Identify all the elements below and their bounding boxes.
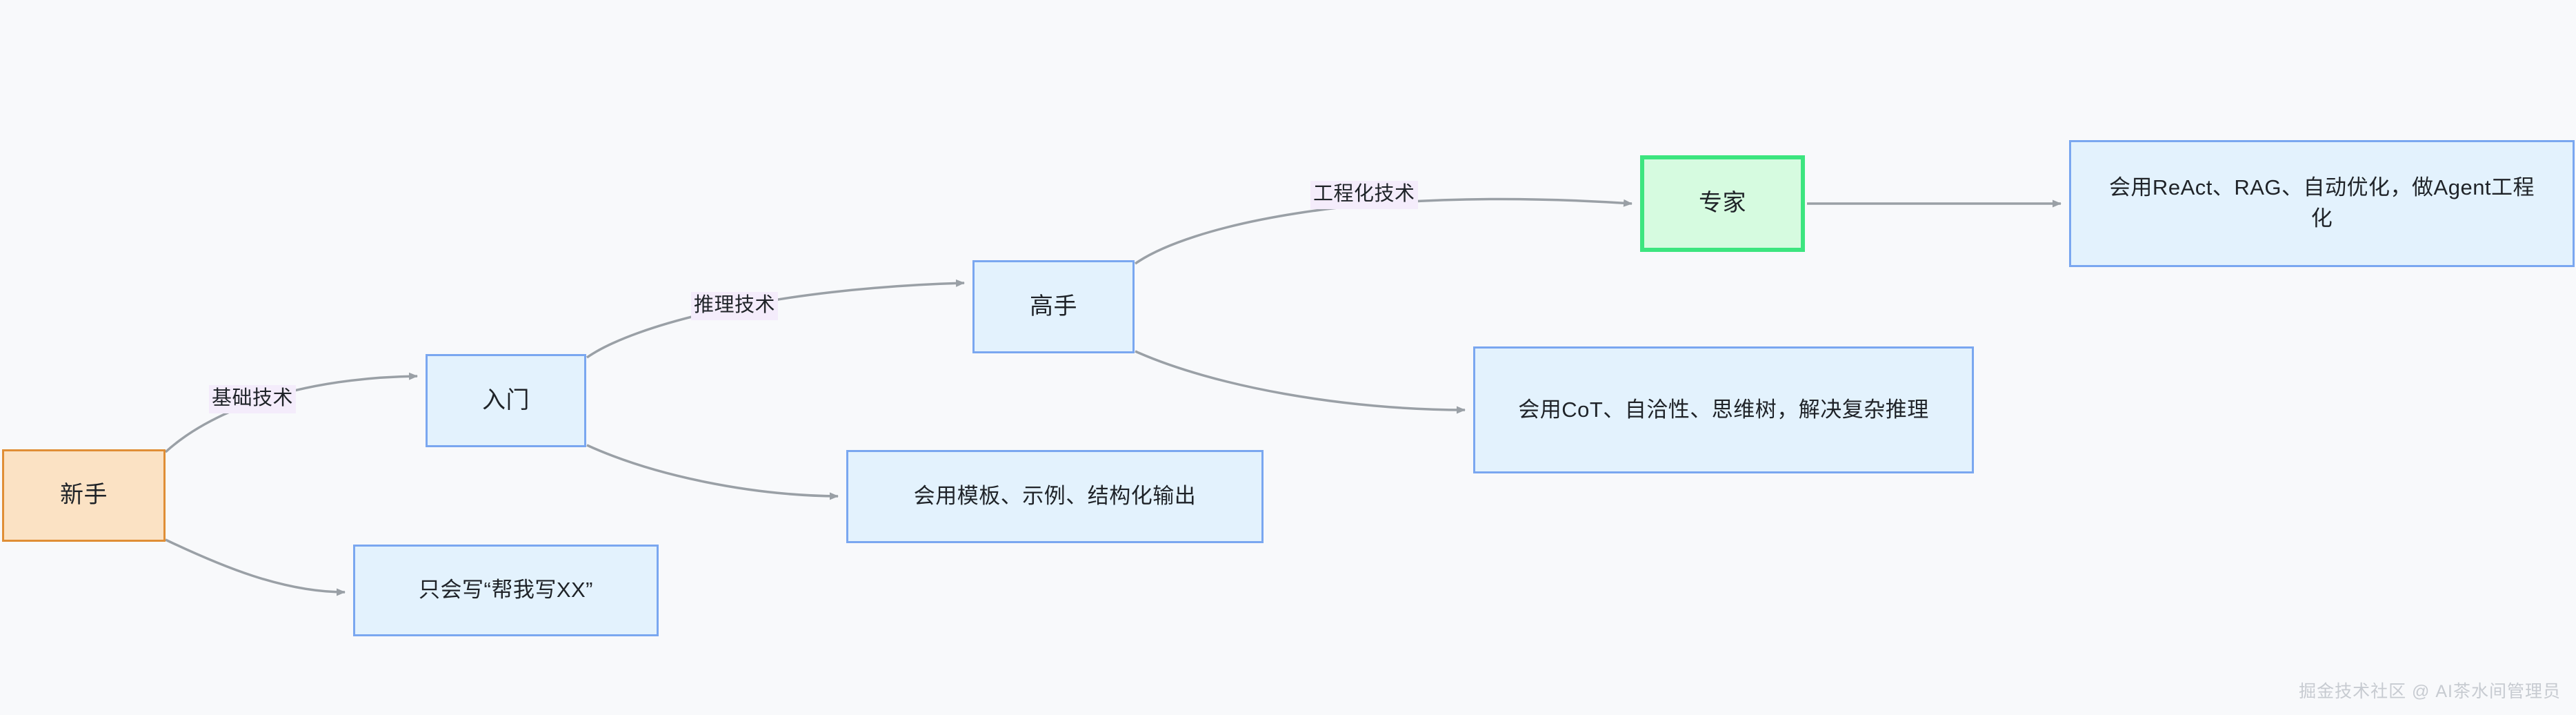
node-beginner-description[interactable]: 会用模板、示例、结构化输出 xyxy=(846,450,1264,543)
edge-label-basic-skill: 基础技术 xyxy=(209,385,296,413)
node-novice[interactable]: 新手 xyxy=(2,449,166,542)
node-beginner[interactable]: 入门 xyxy=(426,354,586,447)
node-advanced-description[interactable]: 会用CoT、自洽性、思维树，解决复杂推理 xyxy=(1473,346,1974,473)
node-expert[interactable]: 专家 xyxy=(1640,155,1805,252)
node-expert-description[interactable]: 会用ReAct、RAG、自动优化，做Agent工程化 xyxy=(2069,140,2575,267)
edge-label-engineering-skill: 工程化技术 xyxy=(1310,181,1418,209)
watermark: 掘金技术社区 @ AI茶水间管理员 xyxy=(2299,678,2561,703)
node-advanced-description-label: 会用CoT、自洽性、思维树，解决复杂推理 xyxy=(1518,395,1929,426)
node-advanced-label: 高手 xyxy=(1030,290,1077,324)
diagram-canvas: 新手 入门 高手 专家 只会写“帮我写XX” 会用模板、示例、结构化输出 会用C… xyxy=(0,0,2576,715)
edge-advanced-to-advanced-desc xyxy=(1135,351,1465,410)
node-novice-description[interactable]: 只会写“帮我写XX” xyxy=(353,545,659,636)
node-novice-label: 新手 xyxy=(60,478,108,512)
edge-label-reasoning-skill: 推理技术 xyxy=(691,292,778,320)
node-beginner-label: 入门 xyxy=(482,384,530,418)
node-beginner-description-label: 会用模板、示例、结构化输出 xyxy=(914,481,1197,512)
edge-beginner-to-beginner-desc xyxy=(587,445,838,496)
node-expert-label: 专家 xyxy=(1699,186,1746,220)
node-expert-description-label: 会用ReAct、RAG、自动优化，做Agent工程化 xyxy=(2103,173,2541,235)
node-advanced[interactable]: 高手 xyxy=(972,260,1135,353)
node-novice-description-label: 只会写“帮我写XX” xyxy=(419,575,593,606)
edge-novice-to-novice-desc xyxy=(166,540,345,592)
